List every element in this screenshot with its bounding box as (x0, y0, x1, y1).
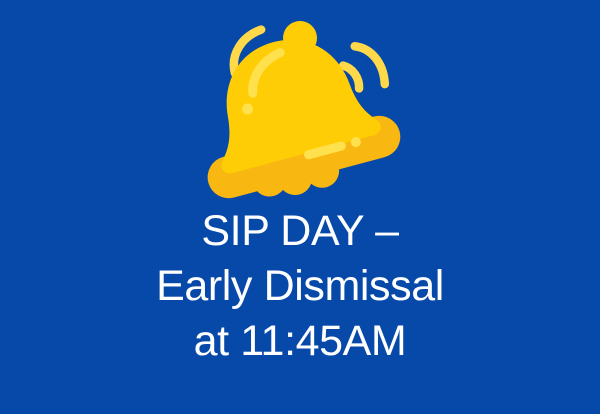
announcement-message: SIP DAY – Early Dismissal at 11:45AM (0, 204, 600, 369)
message-line-2: Early Dismissal (14, 259, 586, 314)
ringing-bell-icon (0, 14, 600, 210)
message-line-3: at 11:45AM (14, 314, 586, 369)
message-line-1: SIP DAY – (14, 204, 586, 259)
announcement-card: SIP DAY – Early Dismissal at 11:45AM (0, 0, 600, 414)
